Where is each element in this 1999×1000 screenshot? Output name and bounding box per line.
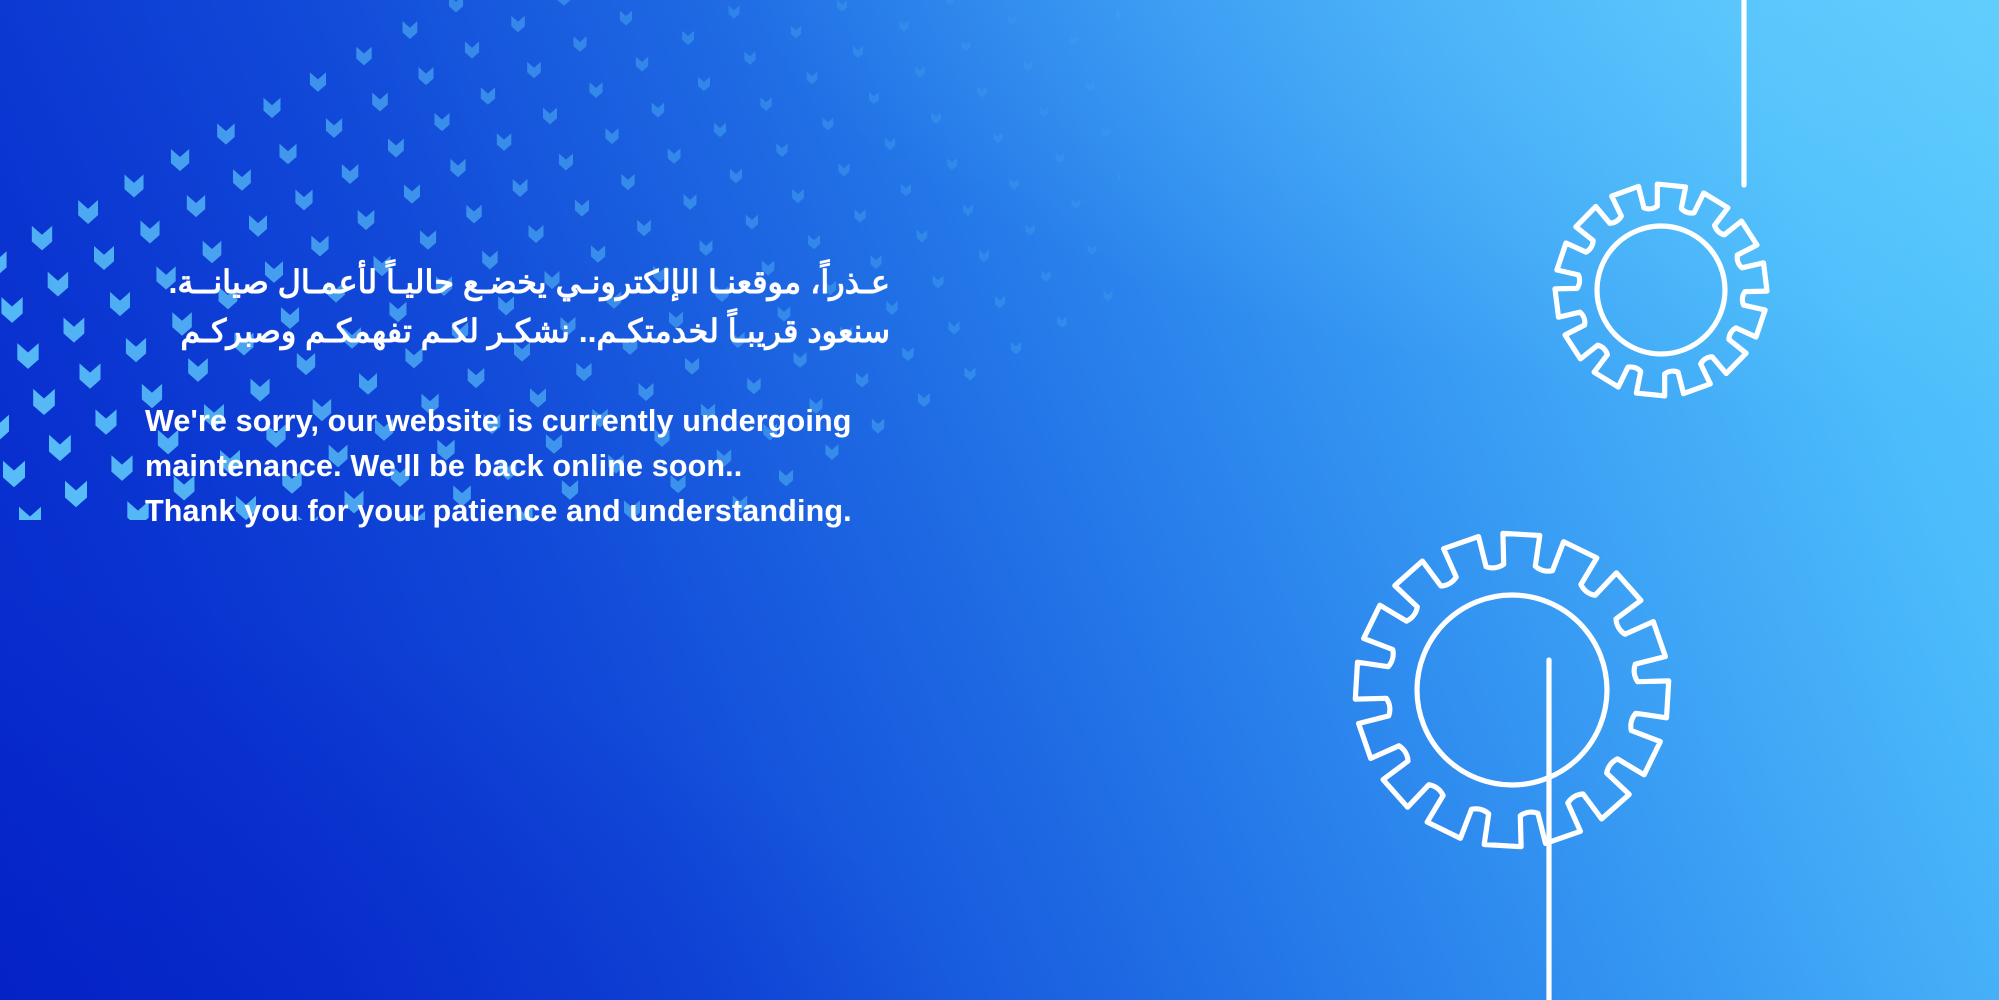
english-line-3: Thank you for your patience and understa… [145, 489, 1145, 534]
arabic-line-1: عـذراً، موقعنـا الإلكترونـي يخضـع حاليـا… [145, 258, 890, 307]
english-line-1: We're sorry, our website is currently un… [145, 399, 1145, 444]
message-block: عـذراً، موقعنـا الإلكترونـي يخضـع حاليـا… [145, 258, 1145, 534]
english-line-2: maintenance. We'll be back online soon.. [145, 444, 1145, 489]
arabic-line-2: سنعود قريبـاً لخدمتكـم.. نشكـر لكـم تفهم… [145, 307, 890, 356]
arabic-message: عـذراً، موقعنـا الإلكترونـي يخضـع حاليـا… [145, 258, 890, 355]
maintenance-page: عـذراً، موقعنـا الإلكترونـي يخضـع حاليـا… [0, 0, 1999, 1000]
english-message: We're sorry, our website is currently un… [145, 399, 1145, 533]
